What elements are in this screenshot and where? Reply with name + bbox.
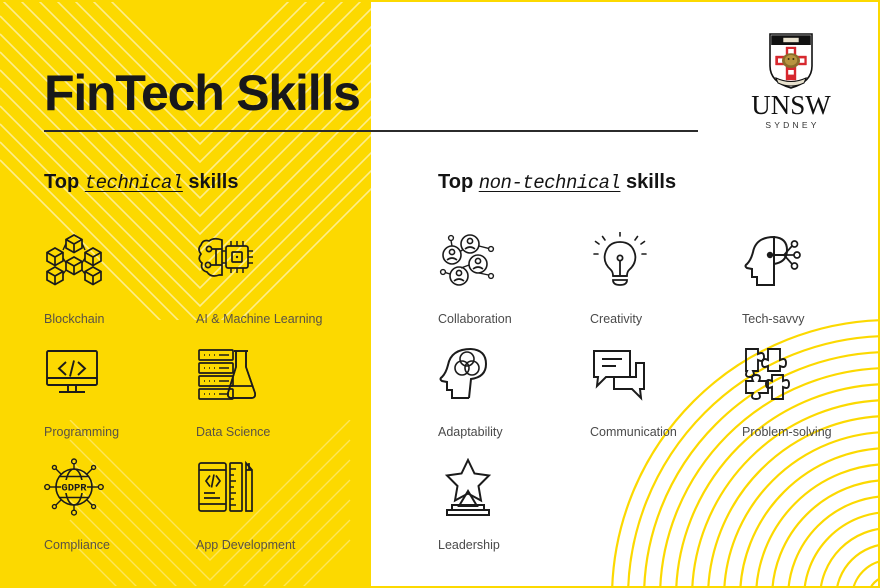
title-divider: [44, 130, 698, 132]
skill-data-science[interactable]: Data Science: [196, 345, 364, 458]
speech-bubbles-icon: [590, 345, 742, 403]
skill-creativity[interactable]: Creativity: [590, 232, 742, 345]
skill-label: Adaptability: [438, 425, 590, 439]
page-title: FinTech Skills: [44, 68, 360, 118]
skill-label: Blockchain: [44, 312, 196, 326]
infographic-page: FinTech Skills UNSW SYDNEY Top technical…: [0, 0, 880, 588]
unsw-sublabel: SYDNEY: [745, 120, 837, 130]
phone-ruler-pencil-icon: [196, 458, 364, 516]
puzzle-icon: [742, 345, 862, 403]
skill-problem-solving[interactable]: Problem-solving: [742, 345, 862, 458]
monitor-code-icon: [44, 345, 196, 403]
heading-technical-emphasis: technical: [85, 172, 183, 194]
blockchain-icon: [44, 232, 196, 290]
heading-non-technical-emphasis: non-technical: [479, 172, 621, 194]
svg-text:GDPR: GDPR: [61, 483, 87, 495]
lightbulb-icon: [590, 232, 742, 290]
skill-ai-machine-learning[interactable]: AI & Machine Learning: [196, 232, 364, 345]
skill-label: Problem-solving: [742, 425, 862, 439]
skill-label: Leadership: [438, 538, 590, 552]
heading-non-technical-prefix: Top: [438, 171, 479, 193]
edge-accent-top: [0, 0, 880, 2]
heading-technical-prefix: Top: [44, 171, 85, 193]
skill-collaboration[interactable]: Collaboration: [438, 232, 590, 345]
heading-non-technical-suffix: skills: [620, 171, 676, 193]
skill-label: Collaboration: [438, 312, 590, 326]
skill-leadership[interactable]: Leadership: [438, 458, 590, 571]
skill-label: Compliance: [44, 538, 196, 552]
unsw-wordmark: UNSW: [745, 91, 837, 119]
server-flask-icon: [196, 345, 364, 403]
skill-adaptability[interactable]: Adaptability: [438, 345, 590, 458]
non-technical-skills-grid: Collaboration Creativity: [438, 232, 838, 571]
skill-label: Communication: [590, 425, 742, 439]
unsw-logo: UNSW SYDNEY: [745, 32, 837, 137]
heading-non-technical: Top non-technical skills: [438, 171, 676, 194]
heading-technical-suffix: skills: [183, 171, 239, 193]
head-circuit-icon: [742, 232, 862, 290]
skill-label: Programming: [44, 425, 196, 439]
gdpr-globe-icon: GDPR: [44, 458, 196, 516]
technical-skills-grid: Blockchain: [44, 232, 364, 571]
skill-label: AI & Machine Learning: [196, 312, 364, 326]
heading-technical: Top technical skills: [44, 171, 238, 194]
head-venn-icon: [438, 345, 590, 403]
people-network-icon: [438, 232, 590, 290]
unsw-crest-icon: [768, 32, 814, 90]
skill-label: App Development: [196, 538, 364, 552]
skill-communication[interactable]: Communication: [590, 345, 742, 458]
star-trophy-icon: [438, 458, 590, 516]
skill-programming[interactable]: Programming: [44, 345, 196, 458]
skill-label: Data Science: [196, 425, 364, 439]
ai-brain-chip-icon: [196, 232, 364, 290]
skill-label: Tech-savvy: [742, 312, 862, 326]
skill-tech-savvy[interactable]: Tech-savvy: [742, 232, 862, 345]
skill-label: Creativity: [590, 312, 742, 326]
skill-app-development[interactable]: App Development: [196, 458, 364, 571]
skill-compliance[interactable]: GDPR Compliance: [44, 458, 196, 571]
skill-blockchain[interactable]: Blockchain: [44, 232, 196, 345]
